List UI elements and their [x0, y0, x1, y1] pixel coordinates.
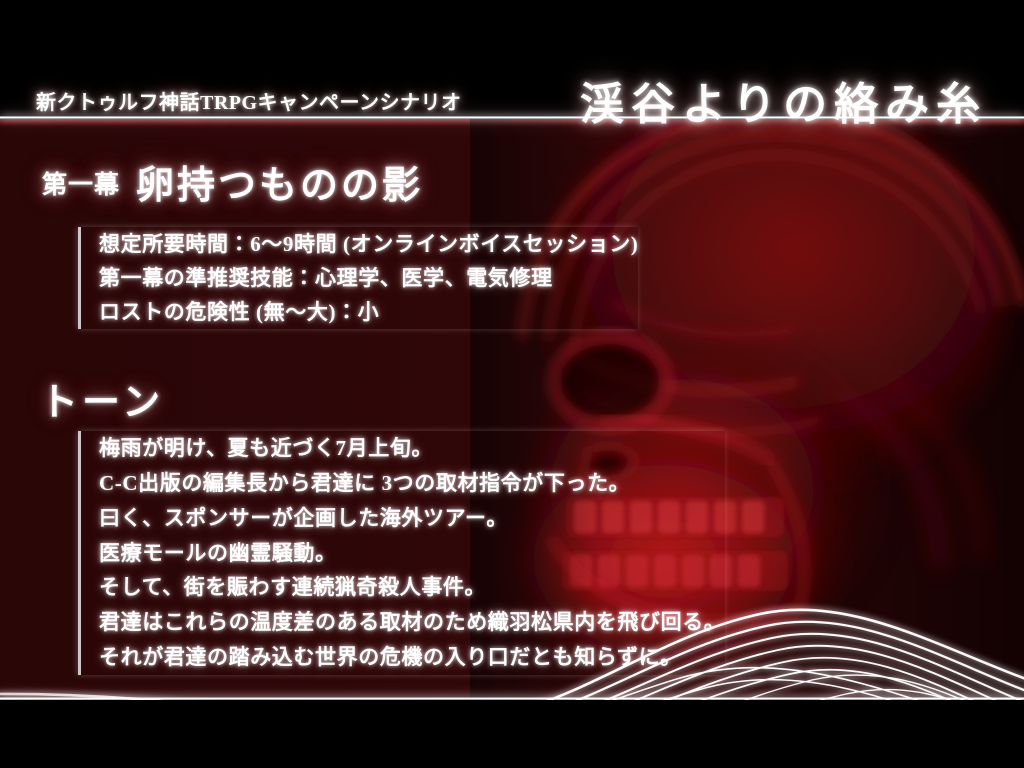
scenario-title: 渓谷よりの絡み糸: [580, 68, 987, 132]
session-info-block: 想定所要時間：6〜9時間 (オンラインボイスセッション) 第一幕の準推奨技能：心…: [78, 227, 638, 329]
tone-line: C-C出版の編集長から君達に 3つの取材指令が下った。: [99, 466, 725, 501]
tone-line: 君達はこれらの温度差のある取材のため織羽松県内を飛び回る。: [99, 605, 725, 640]
tone-line: それが君達の踏み込む世界の危機の入り口だとも知らずに。: [99, 640, 725, 675]
tone-line: 梅雨が明け、夏も近づく7月上旬。: [99, 431, 725, 466]
info-line: 想定所要時間：6〜9時間 (オンラインボイスセッション): [99, 227, 638, 261]
tone-line: そして、街を賑わす連続猟奇殺人事件。: [99, 570, 725, 605]
info-line: 第一幕の準推奨技能：心理学、医学、電気修理: [99, 261, 638, 295]
scenario-subtitle: 新クトゥルフ神話TRPGキャンペーンシナリオ: [36, 86, 462, 115]
tone-line: 医療モールの幽霊騒動。: [99, 536, 725, 571]
header-band: 新クトゥルフ神話TRPGキャンペーンシナリオ 渓谷よりの絡み糸: [0, 0, 1024, 118]
info-line: ロストの危険性 (無〜大)：小: [99, 295, 638, 329]
presentation-slide: 新クトゥルフ神話TRPGキャンペーンシナリオ 渓谷よりの絡み糸 第一幕卵持つもの…: [0, 0, 1024, 768]
tone-line: 曰く、スポンサーが企画した海外ツアー。: [99, 501, 725, 536]
tone-text-block: 梅雨が明け、夏も近づく7月上旬。 C-C出版の編集長から君達に 3つの取材指令が…: [78, 431, 725, 675]
footer-band: [0, 700, 1024, 768]
act-heading: 第一幕卵持つものの影: [42, 154, 423, 209]
tone-heading: トーン: [40, 371, 164, 426]
act-number: 第一幕: [42, 172, 120, 199]
header-divider: [0, 116, 1024, 119]
act-title: 卵持つものの影: [136, 165, 423, 207]
slide-content: 第一幕卵持つものの影 想定所要時間：6〜9時間 (オンラインボイスセッション) …: [0, 119, 1024, 699]
